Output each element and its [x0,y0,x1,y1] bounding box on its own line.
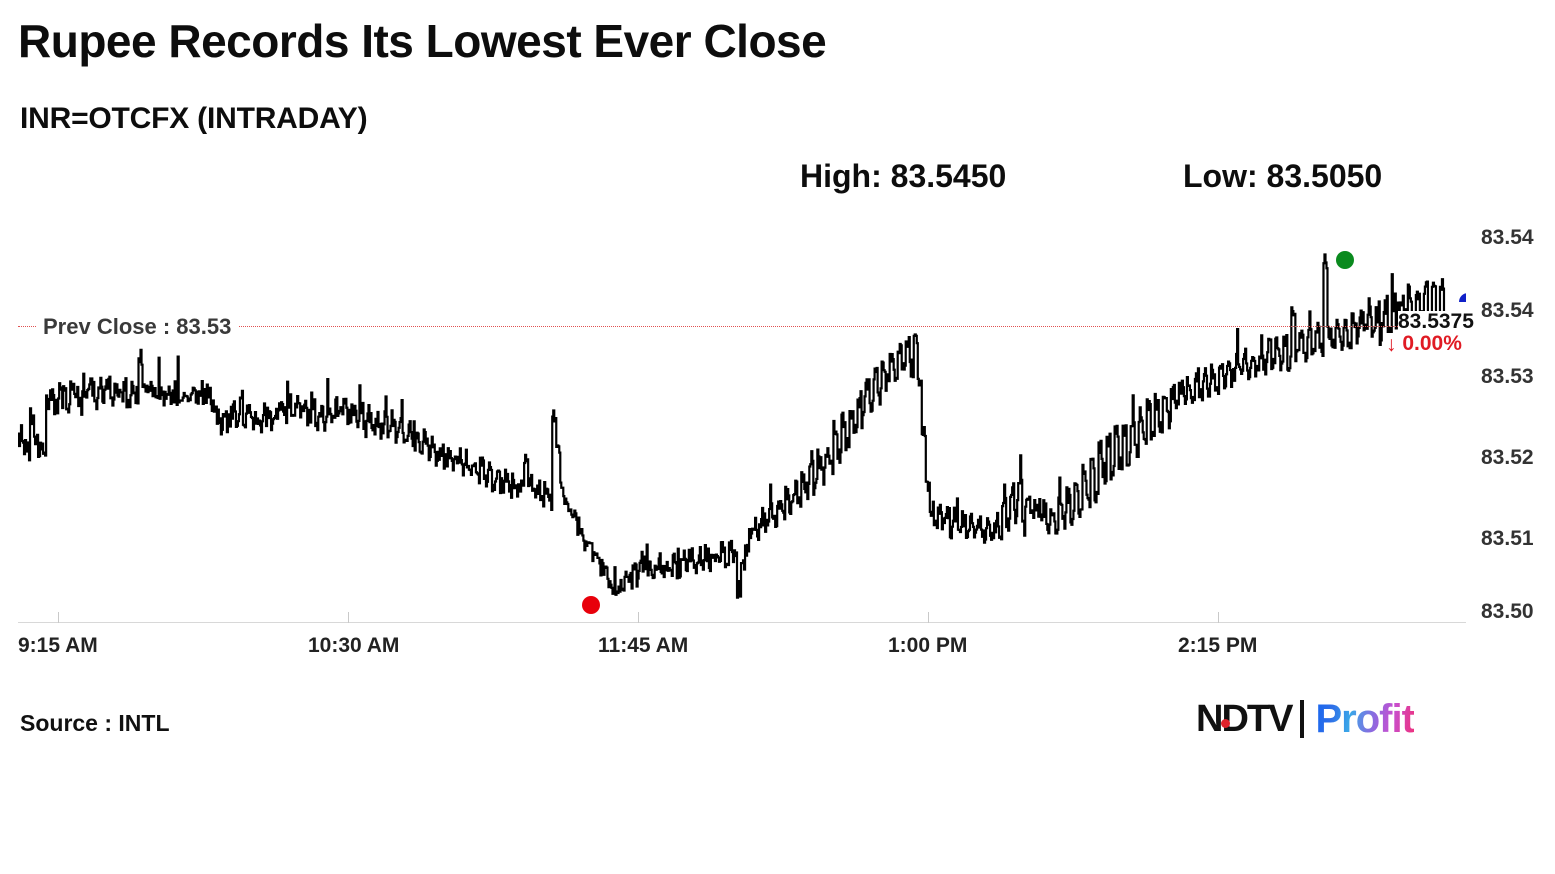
chart-page: Rupee Records Its Lowest Ever Close INR=… [0,0,1555,874]
price-line [18,255,1448,598]
x-axis-tick-label: 9:15 AM [18,634,98,658]
y-axis-tick-label: 83.50 [1481,600,1534,624]
profit-wordmark: Profit [1315,697,1413,742]
y-axis-tick-label: 83.52 [1481,446,1534,470]
ndtv-text: NDTV [1196,698,1291,740]
x-axis-tick-label: 10:30 AM [308,634,399,658]
x-axis-tick-label: 2:15 PM [1178,634,1257,658]
low-stat: Low: 83.5050 [1183,158,1382,195]
x-axis-tick-label: 11:45 AM [598,634,688,658]
x-axis-tick-label: 1:00 PM [888,634,967,658]
x-axis-tick-mark [928,612,929,623]
x-axis-tick-mark [1218,612,1219,623]
last-change-value: 0.00% [1402,332,1462,355]
high-marker [1336,251,1354,269]
ndtv-wordmark: NDTV [1196,698,1291,741]
low-marker [582,596,600,614]
y-axis-tick-label: 83.53 [1481,365,1534,389]
y-axis-tick-label: 83.54 [1481,226,1534,250]
logo-divider [1300,700,1304,738]
page-title: Rupee Records Its Lowest Ever Close [18,14,826,68]
x-axis-tick-mark [348,612,349,623]
price-chart [18,220,1466,622]
x-axis-tick-mark [638,612,639,623]
last-change-label: ↓ 0.00% [1386,333,1462,355]
last-price-label: 83.5375 [1398,311,1474,333]
y-axis-tick-label: 83.54 [1481,299,1534,323]
ndtv-red-dot-icon [1221,719,1230,728]
x-axis-baseline [18,622,1466,623]
price-line-svg [18,220,1466,622]
arrow-down-icon: ↓ [1386,334,1397,356]
x-axis-tick-mark [58,612,59,623]
instrument-subtitle: INR=OTCFX (INTRADAY) [20,102,367,136]
y-axis-tick-label: 83.51 [1481,527,1534,551]
high-stat: High: 83.5450 [800,158,1006,195]
ndtv-profit-logo: NDTV Profit [1196,696,1414,742]
last-marker [1459,293,1466,302]
source-label: Source : INTL [20,710,170,737]
prev-close-label: Prev Close : 83.53 [36,314,238,340]
